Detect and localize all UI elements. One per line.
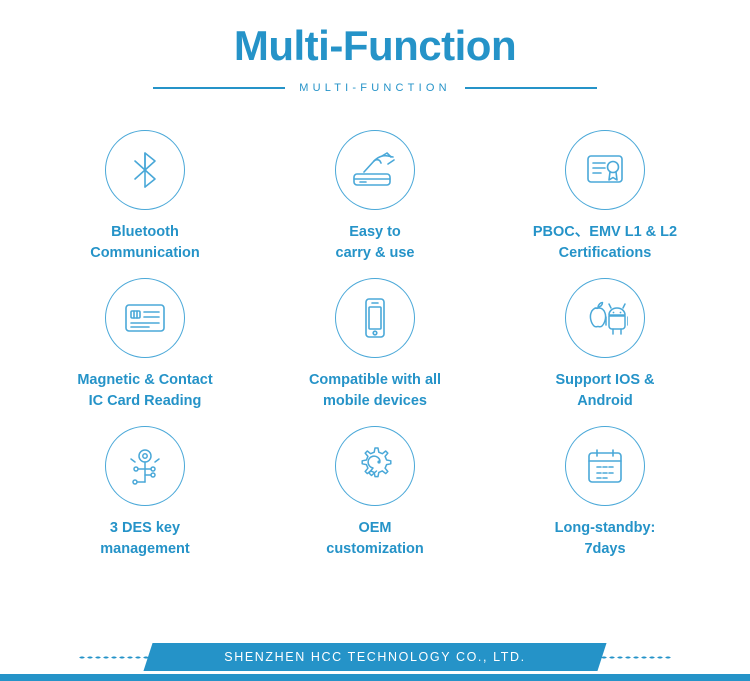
header: Multi-Function MULTI-FUNCTION	[0, 0, 750, 94]
icon-circle	[565, 130, 645, 210]
gear-wrench-icon	[353, 444, 397, 488]
icon-circle	[565, 426, 645, 506]
feature-caption: Long-standby: 7days	[555, 518, 656, 560]
feature-item-card-reading: Magnetic & Contact IC Card Reading	[30, 278, 260, 412]
icon-circle	[335, 130, 415, 210]
footer-company-name: SHENZHEN HCC TECHNOLOGY CO., LTD.	[0, 643, 750, 671]
feature-item-long-standby: Long-standby: 7days	[490, 426, 720, 560]
feature-caption: PBOC、EMV L1 & L2 Certifications	[533, 222, 677, 264]
page-title: Multi-Function	[0, 22, 750, 70]
feature-item-bluetooth: Bluetooth Communication	[30, 130, 260, 264]
bluetooth-icon	[128, 150, 162, 190]
feature-caption: Compatible with all mobile devices	[309, 370, 441, 412]
feature-caption: Magnetic & Contact IC Card Reading	[77, 370, 212, 412]
magnetic-ic-card-icon	[123, 300, 167, 336]
icon-circle	[105, 278, 185, 358]
ios-android-icon	[582, 299, 628, 337]
feature-caption: 3 DES key management	[100, 518, 189, 560]
divider-right	[465, 87, 597, 89]
feature-item-ios-android: Support IOS & Android	[490, 278, 720, 412]
swipe-card-hand-icon	[352, 150, 398, 190]
feature-item-easy-to-carry: Easy to carry & use	[260, 130, 490, 264]
key-circuit-icon	[125, 445, 165, 487]
calendar-icon	[585, 446, 625, 486]
subtitle-row: MULTI-FUNCTION	[0, 82, 750, 94]
icon-circle	[335, 278, 415, 358]
mobile-phone-icon	[360, 296, 390, 340]
divider-left	[153, 87, 285, 89]
certificate-card-icon	[584, 150, 626, 190]
feature-caption: OEM customization	[326, 518, 423, 560]
feature-item-mobile-devices: Compatible with all mobile devices	[260, 278, 490, 412]
icon-circle	[105, 130, 185, 210]
poster-page: Multi-Function MULTI-FUNCTION Bluetoo	[0, 0, 750, 681]
feature-item-oem-customization: OEM customization	[260, 426, 490, 560]
feature-item-certifications: PBOC、EMV L1 & L2 Certifications	[490, 130, 720, 264]
feature-caption: Easy to carry & use	[336, 222, 415, 264]
feature-item-des-key: 3 DES key management	[30, 426, 260, 560]
feature-caption: Bluetooth Communication	[90, 222, 200, 264]
feature-caption: Support IOS & Android	[555, 370, 654, 412]
icon-circle	[105, 426, 185, 506]
page-subtitle: MULTI-FUNCTION	[299, 82, 450, 94]
icon-circle	[565, 278, 645, 358]
footer-bottom-strip	[0, 674, 750, 681]
feature-grid: Bluetooth Communication Easy to c	[30, 130, 720, 560]
icon-circle	[335, 426, 415, 506]
footer: SHENZHEN HCC TECHNOLOGY CO., LTD.	[0, 637, 750, 681]
